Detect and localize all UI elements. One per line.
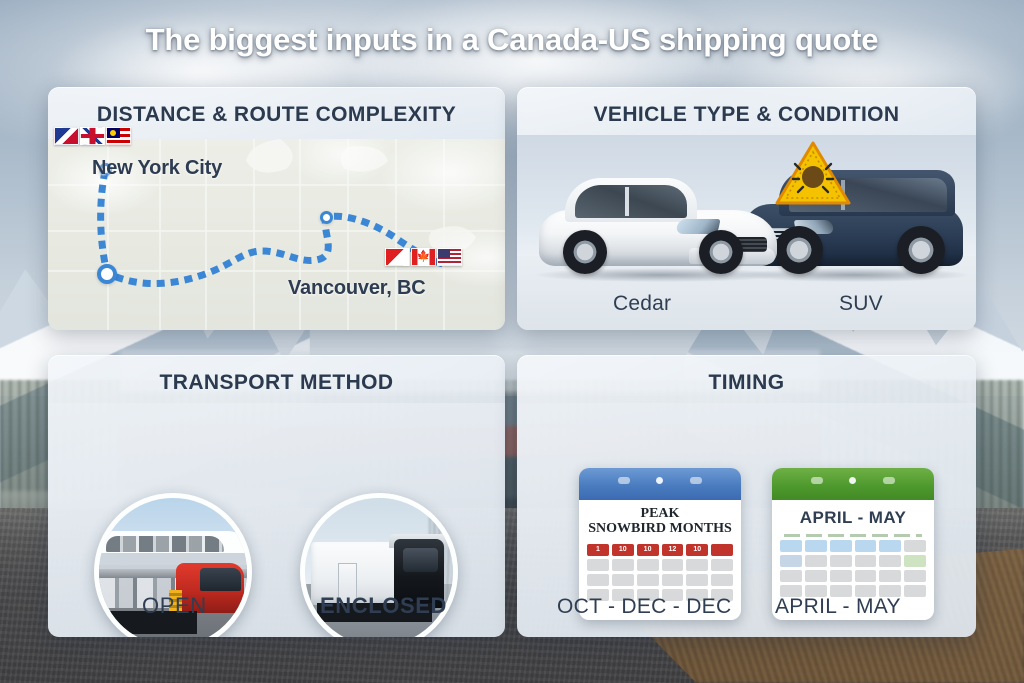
calendar-cell xyxy=(904,570,926,582)
calendar-cell xyxy=(855,555,877,567)
transport-label-enclosed: ENCLOSED xyxy=(320,593,447,619)
calendar-cell-highlight xyxy=(711,544,733,556)
calendar-cell xyxy=(612,559,634,571)
calendar-cell xyxy=(805,540,827,552)
calendar-cell xyxy=(711,574,733,586)
calendar-grid-peak: 1 10 10 12 10 xyxy=(587,544,733,601)
vehicle-label-suv: SUV xyxy=(839,292,883,316)
calendar-cell-highlight: 1 xyxy=(587,544,609,556)
calendar-cell xyxy=(830,540,852,552)
calendar-title-line1: PEAK xyxy=(585,506,735,521)
calendar-cell-highlight: 10 xyxy=(637,544,659,556)
calendar-cell xyxy=(855,570,877,582)
origin-flag-group xyxy=(54,127,131,145)
vehicle-scene: Cedar SUV xyxy=(517,135,976,330)
calendar-cell xyxy=(587,559,609,571)
calendar-cell-highlight: 12 xyxy=(662,544,684,556)
card-title-vehicle: VEHICLE TYPE & CONDITION xyxy=(517,103,976,127)
trailer-cab-windshield xyxy=(403,548,439,572)
carrier-cab-windshield xyxy=(200,568,241,592)
calendar-ring-icon xyxy=(656,477,663,484)
calendar-cell xyxy=(662,574,684,586)
sedan-wheel xyxy=(699,230,743,274)
page-title: The biggest inputs in a Canada-US shippi… xyxy=(0,22,1024,58)
calendar-cell xyxy=(855,540,877,552)
calendar-cell xyxy=(686,574,708,586)
calendar-cell xyxy=(805,555,827,567)
calendar-ring-icon xyxy=(849,477,856,484)
eu-uk-flag-icon xyxy=(54,127,79,145)
usa-flag-icon xyxy=(437,248,462,266)
calendar-title-line2: SNOWBIRD MONTHS xyxy=(585,521,735,536)
calendar-header-green xyxy=(772,468,934,500)
calendar-cell xyxy=(904,555,926,567)
card-timing: PEAK SNOWBIRD MONTHS 1 10 10 12 10 xyxy=(517,355,976,637)
card-title-transport: TRANSPORT METHOD xyxy=(48,371,505,395)
calendar-cell xyxy=(587,574,609,586)
timing-caption-spring: APRIL - MAY xyxy=(775,595,901,619)
uk-flag-icon xyxy=(80,127,105,145)
calendar-title-spring: APRIL - MAY xyxy=(778,510,928,525)
route-node-destination[interactable] xyxy=(320,211,333,224)
timing-scene: PEAK SNOWBIRD MONTHS 1 10 10 12 10 xyxy=(517,403,976,637)
calendar-cell-highlight: 10 xyxy=(686,544,708,556)
warning-triangle-icon xyxy=(774,139,852,209)
calendar-cell xyxy=(612,574,634,586)
calendar-cell-highlight: 10 xyxy=(612,544,634,556)
calendar-rings xyxy=(772,477,934,484)
map-panel: New York City Vancouver, BC xyxy=(48,139,505,330)
white-sedan-icon[interactable] xyxy=(539,176,777,274)
calendar-cell xyxy=(879,570,901,582)
card-vehicle-type-condition: Cedar SUV VEHICLE TYPE & CONDITION xyxy=(517,87,976,330)
calendar-rings xyxy=(579,477,741,484)
calendar-cell xyxy=(879,555,901,567)
calendar-cell xyxy=(637,559,659,571)
calendar-header-blue xyxy=(579,468,741,500)
suv-wheel xyxy=(897,226,945,274)
calendar-ring-icon xyxy=(811,477,823,484)
calendar-cell xyxy=(662,559,684,571)
calendar-ring-icon xyxy=(690,477,702,484)
calendar-cell xyxy=(711,559,733,571)
calendar-cell xyxy=(830,555,852,567)
calendar-cell xyxy=(780,540,802,552)
sedan-wheel xyxy=(563,230,607,274)
calendar-cell xyxy=(780,570,802,582)
calendar-cell xyxy=(686,559,708,571)
calendar-title-underline xyxy=(784,534,922,537)
calendar-ring-icon xyxy=(618,477,630,484)
card-distance-route-complexity: New York City Vancouver, BC DISTANCE & R… xyxy=(48,87,505,330)
transport-label-open: OPEN xyxy=(142,593,207,619)
card-title-timing: TIMING xyxy=(517,371,976,395)
destination-city-label: Vancouver, BC xyxy=(288,277,425,300)
infographic-stage: The biggest inputs in a Canada-US shippi… xyxy=(0,0,1024,683)
calendar-cell xyxy=(904,585,926,597)
card-title-distance: DISTANCE & ROUTE COMPLEXITY xyxy=(48,103,505,127)
calendar-cell xyxy=(805,570,827,582)
calendar-grid-spring xyxy=(780,540,926,597)
vehicle-label-sedan: Cedar xyxy=(613,292,671,316)
calendar-title-peak: PEAK SNOWBIRD MONTHS xyxy=(585,506,735,536)
red-pennant-flag-icon xyxy=(385,248,410,266)
timing-caption-peak: OCT - DEC - DEC xyxy=(557,595,731,619)
calendar-cell xyxy=(780,555,802,567)
card-transport-method: OPEN ENCLOSED TRANSPORT METHOD xyxy=(48,355,505,637)
sedan-windshield xyxy=(575,185,687,218)
calendar-cell xyxy=(637,574,659,586)
destination-flag-group xyxy=(385,248,462,266)
calendar-ring-icon xyxy=(883,477,895,484)
suv-wheel xyxy=(775,226,823,274)
calendar-cell xyxy=(904,540,926,552)
calendar-cell xyxy=(830,570,852,582)
route-node-waypoint[interactable] xyxy=(97,264,117,284)
malaysia-flag-icon xyxy=(106,127,131,145)
calendar-cell xyxy=(879,540,901,552)
canada-flag-icon xyxy=(411,248,436,266)
origin-city-label: New York City xyxy=(92,157,222,180)
transport-scene: OPEN ENCLOSED xyxy=(48,403,505,637)
